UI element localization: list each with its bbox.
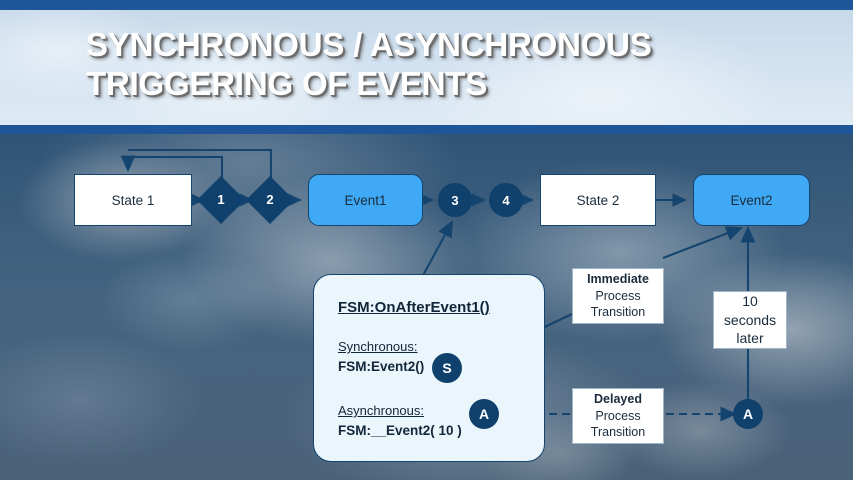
- sync-code: FSM:Event2(): [338, 359, 424, 374]
- page-title-line1: SYNCHRONOUS / ASYNCHRONOUS: [86, 26, 786, 65]
- node-gate-1[interactable]: 1: [197, 176, 245, 224]
- async-heading: Asynchronous:: [338, 403, 424, 418]
- sync-badge[interactable]: S: [432, 353, 462, 383]
- node-event-2-label: Event2: [730, 193, 772, 208]
- label-delay-line3: later: [714, 329, 786, 347]
- label-delay-line2: seconds: [714, 311, 786, 329]
- node-state-2[interactable]: State 2: [540, 174, 656, 226]
- sync-heading: Synchronous:: [338, 339, 418, 354]
- node-gate-4[interactable]: 4: [489, 183, 523, 217]
- label-immediate-line2: Process: [573, 288, 663, 305]
- node-event-2[interactable]: Event2: [693, 174, 810, 226]
- fsm-callout-title: FSM:OnAfterEvent1(): [338, 299, 490, 316]
- sync-badge-label: S: [442, 360, 451, 376]
- label-delayed-line1: Delayed: [573, 391, 663, 408]
- delayed-target-badge-label: A: [743, 406, 753, 422]
- node-event-1[interactable]: Event1: [308, 174, 423, 226]
- label-delay-timer: 10 seconds later: [713, 291, 787, 349]
- label-delayed: Delayed Process Transition: [572, 388, 664, 444]
- label-immediate-line3: Transition: [573, 304, 663, 321]
- node-state-2-label: State 2: [577, 193, 620, 208]
- label-delay-line1: 10: [714, 292, 786, 310]
- async-badge[interactable]: A: [469, 399, 499, 429]
- label-immediate-line1: Immediate: [573, 271, 663, 288]
- label-delayed-line2: Process: [573, 408, 663, 425]
- node-state-1[interactable]: State 1: [74, 174, 192, 226]
- node-gate-1-label: 1: [204, 183, 238, 217]
- label-delayed-line3: Transition: [573, 424, 663, 441]
- node-state-1-label: State 1: [112, 193, 155, 208]
- async-badge-label: A: [479, 406, 489, 422]
- node-gate-3[interactable]: 3: [438, 183, 472, 217]
- page-title: SYNCHRONOUS / ASYNCHRONOUS TRIGGERING OF…: [86, 26, 786, 103]
- node-gate-2-label: 2: [253, 183, 287, 217]
- node-gate-2[interactable]: 2: [246, 176, 294, 224]
- async-code: FSM:__Event2( 10 ): [338, 423, 462, 438]
- label-immediate: Immediate Process Transition: [572, 268, 664, 324]
- node-event-1-label: Event1: [344, 193, 386, 208]
- page-title-line2: TRIGGERING OF EVENTS: [86, 65, 786, 104]
- fsm-callout: FSM:OnAfterEvent1() Synchronous: FSM:Eve…: [313, 274, 545, 462]
- node-gate-4-label: 4: [502, 193, 509, 208]
- slide-canvas: SYNCHRONOUS / ASYNCHRONOUS TRIGGERING OF…: [0, 0, 853, 480]
- node-gate-3-label: 3: [451, 193, 458, 208]
- delayed-target-badge[interactable]: A: [733, 399, 763, 429]
